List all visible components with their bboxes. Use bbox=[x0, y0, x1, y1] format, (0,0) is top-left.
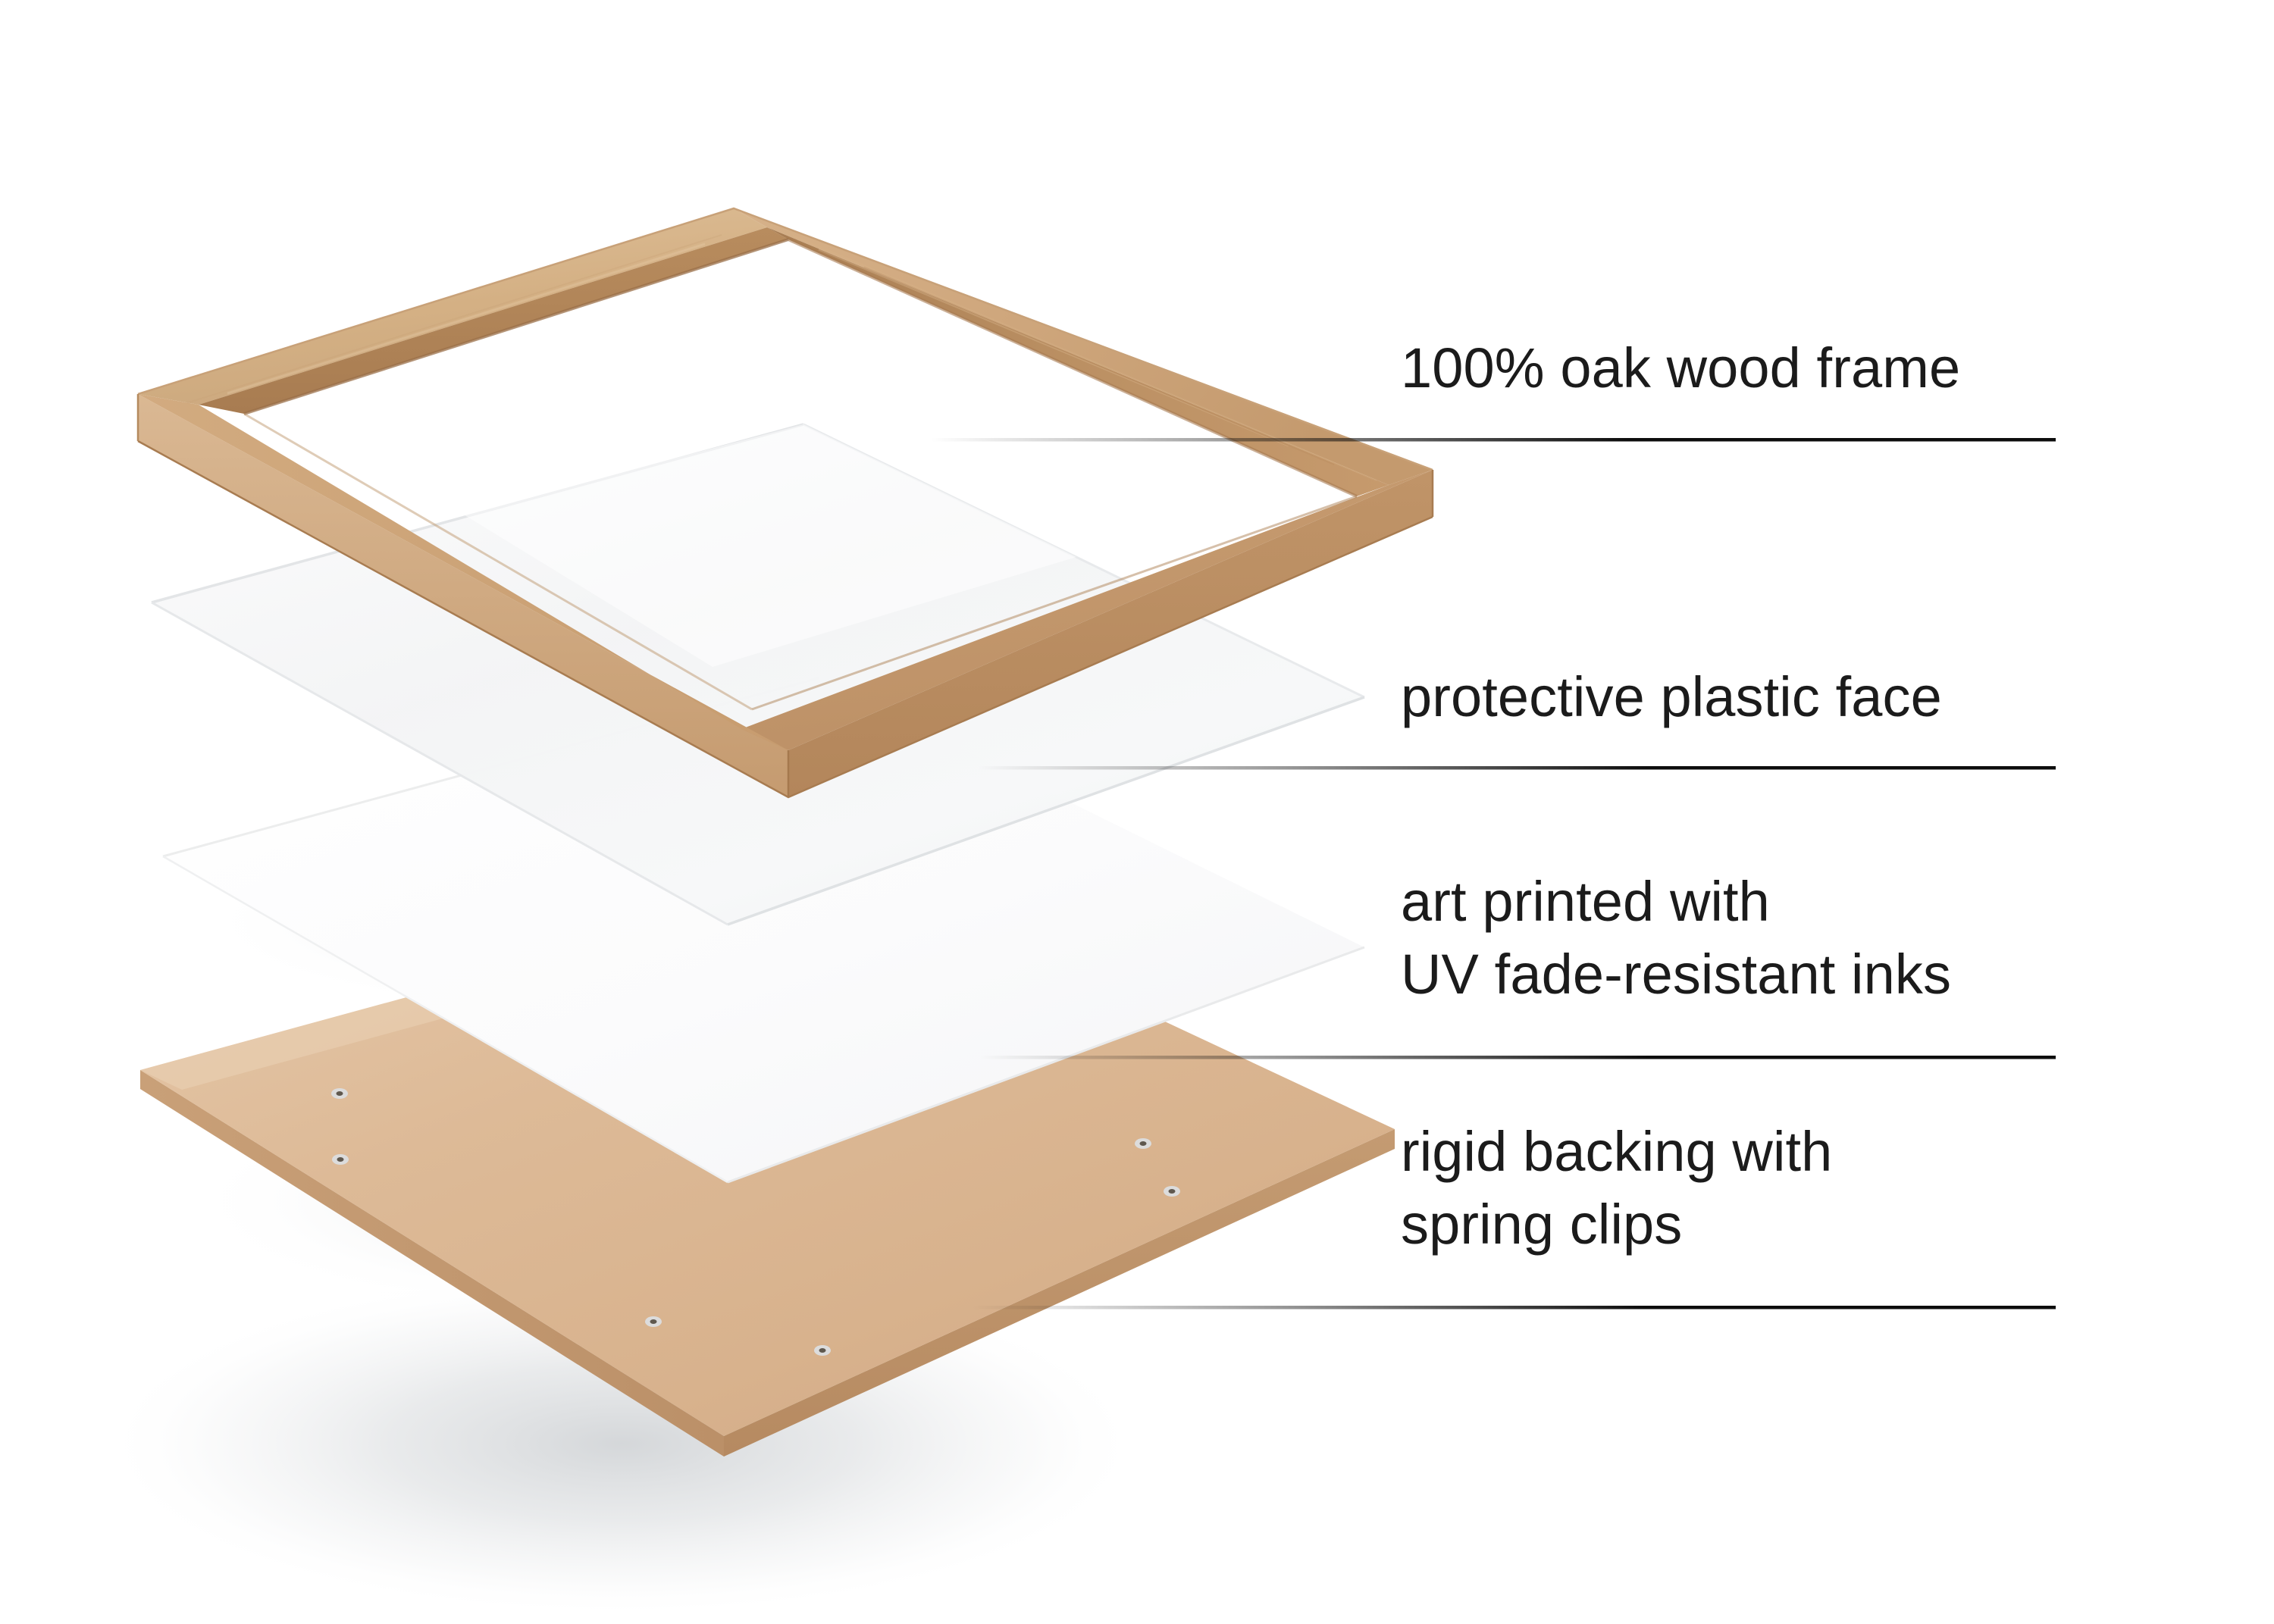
callout-art-print: art printed with UV fade-resistant inks bbox=[1401, 865, 1951, 1011]
callout-rigid-backing: rigid backing with spring clips bbox=[1401, 1116, 1832, 1261]
callout-oak-wood-frame: 100% oak wood frame bbox=[1401, 332, 1960, 405]
callout-label-art-print: art printed with UV fade-resistant inks bbox=[1401, 865, 1951, 1011]
callout-protective-plastic-face: protective plastic face bbox=[1401, 661, 1942, 734]
callout-label-oak-wood-frame: 100% oak wood frame bbox=[1401, 332, 1960, 405]
callout-label-rigid-backing: rigid backing with spring clips bbox=[1401, 1116, 1832, 1261]
callout-list: 100% oak wood frame protective plastic f… bbox=[0, 0, 2274, 1624]
diagram-stage: 100% oak wood frame protective plastic f… bbox=[0, 0, 2274, 1624]
callout-label-protective-plastic-face: protective plastic face bbox=[1401, 661, 1942, 734]
